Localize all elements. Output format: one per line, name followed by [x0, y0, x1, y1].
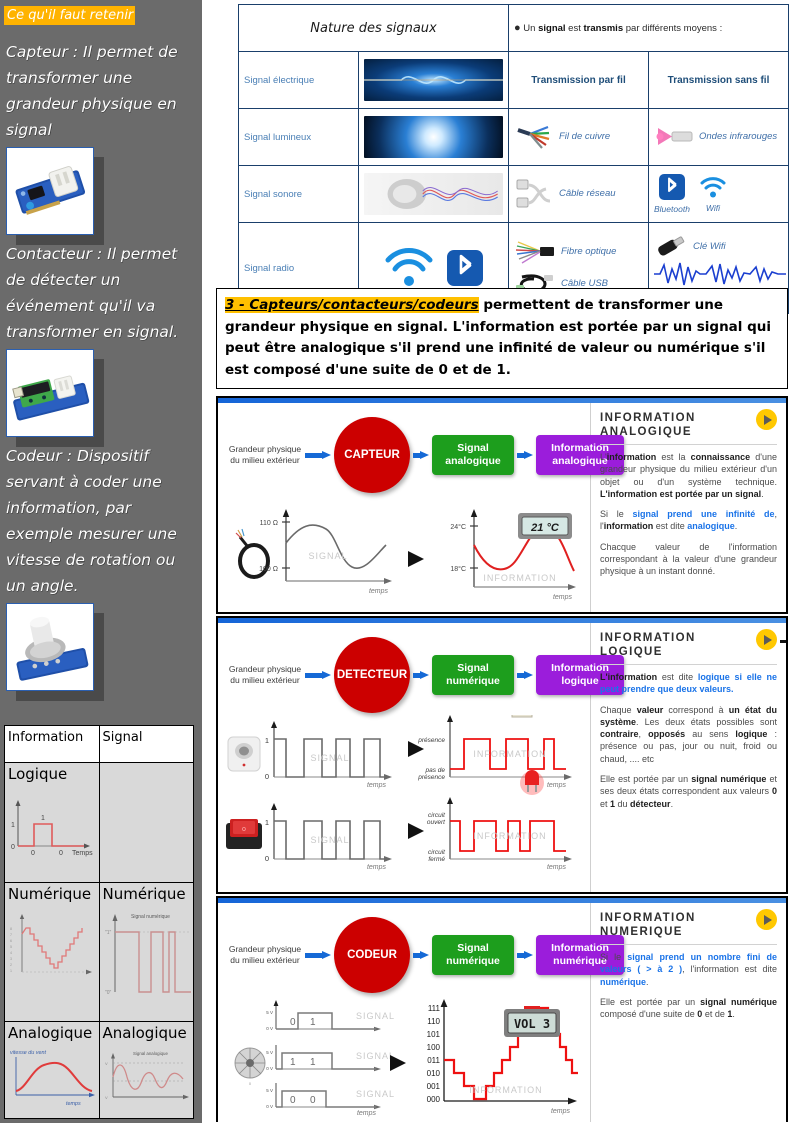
svg-text:5 V: 5 V	[266, 1088, 273, 1093]
electric-waveform-image	[364, 59, 503, 101]
chart-information-analogique: 24°C 18°C INFORMATION temps 21 °C	[450, 509, 576, 601]
flow-device-codeur: CODEUR	[334, 917, 410, 993]
svg-text:7: 7	[10, 933, 12, 937]
arrow-icon	[517, 951, 533, 960]
bullet-mid: est	[566, 23, 584, 34]
svg-text:0: 0	[290, 1017, 296, 1028]
sidebar-highlight-label: Ce qu'il faut retenir	[4, 6, 135, 25]
panel-information-logique: Grandeur physique du milieu extérieur DE…	[216, 616, 788, 894]
display-value-temperature: 21 °C	[530, 522, 560, 534]
svg-text:ouvert: ouvert	[427, 819, 446, 826]
chart-signal-bits-row2: 5 V 0 V 1 1 SIGNAL	[266, 1045, 395, 1071]
svg-text:111: 111	[428, 1004, 441, 1013]
svg-text:5 V: 5 V	[266, 1050, 273, 1055]
sound-wave-image	[364, 173, 503, 215]
mechanical-vibration-icon	[654, 261, 786, 287]
panel-paragraphs-analogique: L'information est la connaissance d'une …	[600, 451, 777, 578]
svg-text:0: 0	[59, 850, 63, 857]
nature-table-bullet: ● Un signal est transmis par différents …	[514, 22, 783, 35]
temperature-display: 21 °C	[518, 513, 572, 539]
sidebar-highlight-title: Ce qu'il faut retenir	[4, 6, 198, 25]
svg-text:1: 1	[265, 736, 269, 745]
nature-table-row-sonore: Signal sonore Câble réseau	[239, 166, 789, 223]
panel-title-line1: INFORMATION	[600, 631, 777, 645]
cell-label-numerique-signal: Numérique	[103, 885, 186, 903]
arrow-icon	[408, 551, 424, 567]
row-label-signal-sonore: Signal sonore	[244, 189, 302, 200]
svg-text:SIGNAL: SIGNAL	[356, 1011, 395, 1021]
svg-text:INFORMATION: INFORMATION	[483, 573, 556, 583]
sidebar-term-contacteur: Contacteur	[6, 245, 92, 263]
svg-text:001: 001	[427, 1082, 441, 1091]
svg-text:fermé: fermé	[428, 856, 445, 863]
svg-text:V: V	[105, 1095, 108, 1100]
svg-text:temps: temps	[553, 594, 573, 601]
svg-text:temps: temps	[547, 864, 567, 871]
divider	[600, 444, 777, 445]
sidebar-image-contacteur	[6, 349, 198, 437]
svg-text:8: 8	[10, 927, 12, 931]
svg-text:0: 0	[249, 1081, 252, 1086]
flow-device-capteur: CAPTEUR	[334, 417, 410, 493]
arrow-icon	[408, 823, 424, 839]
panel-title-line2: ANALOGIQUE	[600, 425, 777, 439]
bullet-signal: signal	[538, 23, 565, 34]
chart-analogique-signal: Signal analogique V V	[103, 1045, 193, 1109]
panel-information-analogique: Grandeur physique du milieu extérieur CA…	[216, 396, 788, 614]
arrow-icon	[413, 671, 429, 680]
svg-text:6: 6	[10, 939, 12, 943]
svg-text:011: 011	[427, 1056, 440, 1065]
wireless-items-bluetooth-wifi: Bluetooth Wifi	[654, 174, 783, 215]
sidebar-entry-contacteur: Contacteur : Il permet de détecter un év…	[4, 241, 198, 345]
chart-signal-bits-row1: 5 V 0 V 0 1 SIGNAL	[266, 1000, 395, 1031]
panel-text-numerique: INFORMATION NUMERIQUE Si le signal prend…	[591, 903, 786, 1122]
wireless-item-bluetooth: Bluetooth	[654, 174, 690, 215]
svg-text:100 Ω: 100 Ω	[259, 566, 278, 573]
panel-text-logique: INFORMATION LOGIQUE L'information est di…	[591, 623, 786, 892]
sidebar-text-codeur: : Dispositif servant à coder une informa…	[6, 447, 177, 595]
play-icon[interactable]	[756, 629, 777, 650]
divider	[600, 944, 777, 945]
chart-signal-logique-1: 1 0 SIGNAL temps	[265, 721, 392, 789]
red-led-icon	[520, 770, 544, 795]
svg-text:présence: présence	[417, 774, 445, 781]
svg-text:1: 1	[310, 1017, 316, 1028]
label-ondes-infrarouges: Ondes infrarouges	[699, 131, 777, 143]
play-icon[interactable]	[756, 409, 777, 430]
svg-text:SIGNAL: SIGNAL	[356, 1089, 395, 1099]
svg-text:5: 5	[10, 945, 12, 949]
svg-text:0 V: 0 V	[266, 1066, 273, 1071]
svg-text:circuit: circuit	[428, 812, 446, 819]
svg-text:0: 0	[31, 850, 35, 857]
chart-logique-information: 1 0 1 0 0 Temps	[8, 798, 96, 860]
label-fil-de-cuivre: Fil de cuivre	[559, 131, 610, 143]
flow-signal-box: Signal numérique	[432, 935, 514, 975]
arrow-icon	[390, 1055, 406, 1071]
table-row-logique: Logique 1 0 1 0 0 Temps	[5, 763, 194, 883]
svg-text:V: V	[105, 1061, 108, 1066]
nature-des-signaux-table: Nature des signaux ● Un signal est trans…	[238, 4, 789, 314]
cell-label-analogique-info: Analogique	[8, 1024, 92, 1042]
table-header-row: Information Signal	[5, 726, 194, 763]
panel-paragraphs-logique: L'information est dite logique si elle n…	[600, 671, 777, 810]
svg-text:temps: temps	[357, 1110, 377, 1117]
arrow-icon	[305, 451, 331, 460]
cell-label-analogique-signal: Analogique	[103, 1024, 187, 1042]
blinds-icon	[511, 715, 533, 717]
chart-information-numerique: 111110101 100011010 001000 INFORMATION t…	[427, 999, 578, 1115]
svg-text:0: 0	[265, 854, 269, 863]
flow-diagram-analogique: Grandeur physique du milieu extérieur CA…	[228, 417, 624, 493]
svg-text:pas de: pas de	[424, 767, 445, 774]
column-header-signal: Signal	[103, 730, 143, 745]
svg-text:101: 101	[427, 1030, 441, 1039]
motion-detector-icon	[228, 737, 260, 771]
wireless-item-cle-wifi: Clé Wifi	[654, 234, 783, 260]
svg-text:temps: temps	[547, 782, 567, 789]
sidebar-term-capteur: Capteur	[6, 43, 68, 61]
column-header-transmission-par-fil: Transmission par fil	[514, 75, 643, 86]
chart-caption-vitesse-du-vent: vitesse du vent	[10, 1050, 46, 1056]
svg-text:1: 1	[11, 822, 15, 829]
chart-information-logique-1: présence pas de présence INFORMATION tem…	[417, 715, 572, 789]
svg-text:o: o	[242, 826, 246, 833]
usb-wifi-dongle-icon	[654, 234, 688, 260]
svg-text:1: 1	[41, 815, 45, 822]
svg-text:présence: présence	[417, 737, 445, 744]
panel-text-analogique: INFORMATION ANALOGIQUE L'information est…	[591, 403, 786, 612]
flow-source-label: Grandeur physique du milieu extérieur	[228, 664, 302, 686]
arrow-icon	[413, 451, 429, 460]
charts-analogique: 110 Ω 100 Ω SIGNAL temps 24°C 18°C	[218, 505, 590, 613]
column-header-information: Information	[8, 730, 83, 745]
nature-table-row-lumineux: Signal lumineux Fil de cuivre	[239, 109, 789, 166]
svg-text:5 V: 5 V	[266, 1010, 273, 1015]
arrow-icon	[305, 671, 331, 680]
chart-numerique-signal: Signal numérique "1" "0"	[103, 906, 193, 1014]
svg-text:0 V: 0 V	[266, 1026, 273, 1031]
nature-title-cell: Nature des signaux	[239, 5, 509, 52]
chart-numerique-information: 876 543 21	[8, 912, 96, 984]
wired-item-fil-de-cuivre: Fil de cuivre	[514, 122, 643, 152]
wireless-item-wifi: Wifi	[699, 175, 727, 214]
bullet-pre: Un	[523, 23, 538, 34]
table-row-numerique: Numérique 876 543 21 Numérique	[5, 883, 194, 1022]
chart-caption-signal-analogique: Signal analogique	[133, 1051, 168, 1056]
svg-text:000: 000	[427, 1095, 441, 1104]
edge-mark	[780, 640, 788, 643]
svg-text:1: 1	[10, 969, 12, 973]
charts-logique: 1 0 SIGNAL temps présence pas de présenc…	[218, 715, 590, 894]
charts-numerique: 0 5 V 0 V 0 1 SIGNAL 5 V 0 V	[218, 999, 590, 1122]
wifi-icon	[385, 248, 433, 288]
cell-label-numerique-info: Numérique	[8, 885, 91, 903]
svg-text:INFORMATION: INFORMATION	[473, 749, 546, 759]
svg-text:010: 010	[427, 1069, 441, 1078]
rocker-switch-icon: o	[226, 819, 262, 849]
chart-caption-signal-numerique: Signal numérique	[131, 914, 170, 920]
grove-rotary-encoder-board-image	[6, 603, 94, 691]
flow-source-label: Grandeur physique du milieu extérieur	[228, 444, 302, 466]
svg-text:1: 1	[265, 818, 269, 827]
column-header-transmission-sans-fil: Transmission sans fil	[654, 75, 783, 86]
flow-signal-box: Signal numérique	[432, 655, 514, 695]
panel-paragraphs-numerique: Si le signal prend un nombre fini de val…	[600, 951, 777, 1020]
bullet-post: par différents moyens :	[623, 23, 722, 34]
svg-text:100: 100	[427, 1043, 441, 1052]
chart-signal-logique-2: 1 0 SIGNAL temps	[265, 803, 392, 871]
chart-signal-bits-row3: 5 V 0 V 0 0 SIGNAL temps	[266, 1083, 395, 1117]
sidebar-image-codeur	[6, 603, 198, 691]
wifi-icon	[699, 175, 727, 199]
flow-source-label: Grandeur physique du milieu extérieur	[228, 944, 302, 966]
cell-label-logique: Logique	[8, 765, 67, 783]
grove-sensor-board-image	[6, 147, 94, 235]
svg-text:0: 0	[265, 772, 269, 781]
light-burst-image	[364, 116, 503, 158]
display-value-volume: VOL 3	[514, 1017, 550, 1031]
svg-text:SIGNAL: SIGNAL	[308, 551, 347, 561]
panel-information-numerique: Grandeur physique du milieu extérieur CO…	[216, 896, 788, 1122]
chart-signal-analogique: 110 Ω 100 Ω SIGNAL temps	[259, 509, 392, 595]
row-label-signal-electrique: Signal électrique	[244, 75, 314, 86]
svg-text:4: 4	[10, 951, 12, 955]
svg-text:0: 0	[310, 1095, 316, 1106]
svg-text:INFORMATION: INFORMATION	[469, 1085, 542, 1095]
svg-text:SIGNAL: SIGNAL	[310, 835, 349, 845]
rotary-encoder-wheel-icon: 0	[235, 1048, 265, 1086]
panel-title-line2: NUMERIQUE	[600, 925, 777, 939]
flow-device-detecteur: DETECTEUR	[334, 637, 410, 713]
svg-text:temps: temps	[367, 864, 387, 871]
panel-diagram-numerique: Grandeur physique du milieu extérieur CO…	[218, 903, 591, 1122]
svg-text:circuit: circuit	[428, 849, 446, 856]
wireless-item-ondes-infrarouges: Ondes infrarouges	[654, 122, 783, 152]
chart-analogique-information: vitesse du vent temps	[8, 1045, 98, 1109]
svg-text:110: 110	[427, 1017, 440, 1026]
row-label-signal-radio: Signal radio	[244, 263, 294, 274]
network-cable-icon	[514, 177, 554, 211]
wired-item-fibre-optique: Fibre optique	[514, 239, 643, 265]
definition-text: 3 - Capteurs/contacteurs/codeurs permett…	[225, 295, 779, 381]
arrow-icon	[413, 951, 429, 960]
sidebar-entry-codeur: Codeur : Dispositif servant à coder une …	[4, 443, 198, 599]
sidebar: Ce qu'il faut retenir Capteur : Il perme…	[0, 0, 202, 1123]
svg-text:0: 0	[11, 844, 15, 851]
row-label-signal-lumineux: Signal lumineux	[244, 132, 311, 143]
label-fibre-optique: Fibre optique	[561, 246, 616, 258]
nature-table-row-electrique: Signal électrique Transmission par fil T…	[239, 52, 789, 109]
svg-text:temps: temps	[367, 782, 387, 789]
svg-text:"1": "1"	[105, 930, 112, 936]
svg-text:1: 1	[290, 1057, 296, 1068]
panel-title-line1: INFORMATION	[600, 411, 777, 425]
svg-text:"0": "0"	[105, 990, 112, 996]
information-signal-table: Information Signal Logique 1 0 1 0 0 Tem…	[4, 725, 194, 1119]
svg-text:1: 1	[310, 1057, 316, 1068]
label-cable-reseau: Câble réseau	[559, 188, 616, 200]
sidebar-term-codeur: Codeur	[6, 447, 62, 465]
arrow-icon	[305, 951, 331, 960]
bluetooth-icon	[659, 174, 685, 200]
panel-title-line2: LOGIQUE	[600, 645, 777, 659]
panel-diagram-logique: Grandeur physique du milieu extérieur DE…	[218, 623, 591, 892]
svg-text:SIGNAL: SIGNAL	[310, 753, 349, 763]
svg-text:temps: temps	[551, 1108, 571, 1115]
arrow-icon	[517, 451, 533, 460]
sidebar-entry-capteur: Capteur : Il permet de transformer une g…	[4, 39, 198, 143]
flow-diagram-numerique: Grandeur physique du milieu extérieur CO…	[228, 917, 624, 993]
nature-bullet-cell: ● Un signal est transmis par différents …	[509, 5, 789, 52]
grove-switch-board-image	[6, 349, 94, 437]
sidebar-image-capteur	[6, 147, 198, 235]
svg-text:24°C: 24°C	[450, 523, 466, 531]
svg-text:temps: temps	[369, 588, 389, 595]
svg-text:SIGNAL: SIGNAL	[356, 1051, 395, 1061]
label-wifi: Wifi	[699, 202, 727, 214]
definition-box: 3 - Capteurs/contacteurs/codeurs permett…	[216, 288, 788, 389]
panel-title-line1: INFORMATION	[600, 911, 777, 925]
svg-text:temps: temps	[66, 1101, 81, 1107]
svg-text:3: 3	[10, 957, 12, 961]
nature-table-header-row: Nature des signaux ● Un signal est trans…	[239, 5, 789, 52]
svg-text:INFORMATION: INFORMATION	[473, 831, 546, 841]
bullet-transmis: transmis	[584, 23, 624, 34]
nature-table-title: Nature des signaux	[244, 21, 503, 36]
radio-media-icons	[364, 248, 503, 288]
label-bluetooth: Bluetooth	[654, 203, 690, 215]
panel-diagram-analogique: Grandeur physique du milieu extérieur CA…	[218, 403, 591, 612]
bluetooth-icon	[447, 250, 483, 286]
infrared-remote-icon	[654, 122, 694, 152]
svg-text:110 Ω: 110 Ω	[260, 520, 278, 527]
divider	[600, 664, 777, 665]
label-cle-wifi: Clé Wifi	[693, 241, 726, 253]
definition-highlight: 3 - Capteurs/contacteurs/codeurs	[225, 297, 479, 313]
play-icon[interactable]	[756, 909, 777, 930]
volume-display: VOL 3	[504, 1006, 560, 1037]
table-row-analogique: Analogique vitesse du vent temps Analogi…	[5, 1022, 194, 1119]
flow-signal-box: Signal analogique	[432, 435, 514, 475]
wired-item-cable-reseau: Câble réseau	[514, 177, 643, 211]
arrow-icon	[517, 671, 533, 680]
svg-text:Temps: Temps	[72, 850, 93, 857]
svg-text:0: 0	[290, 1095, 296, 1106]
flow-diagram-logique: Grandeur physique du milieu extérieur DE…	[228, 637, 624, 713]
fiber-optic-icon	[514, 239, 556, 265]
svg-text:0 V: 0 V	[266, 1104, 273, 1109]
svg-text:18°C: 18°C	[450, 565, 466, 573]
svg-text:2: 2	[10, 963, 12, 967]
copper-wire-icon	[514, 122, 554, 152]
